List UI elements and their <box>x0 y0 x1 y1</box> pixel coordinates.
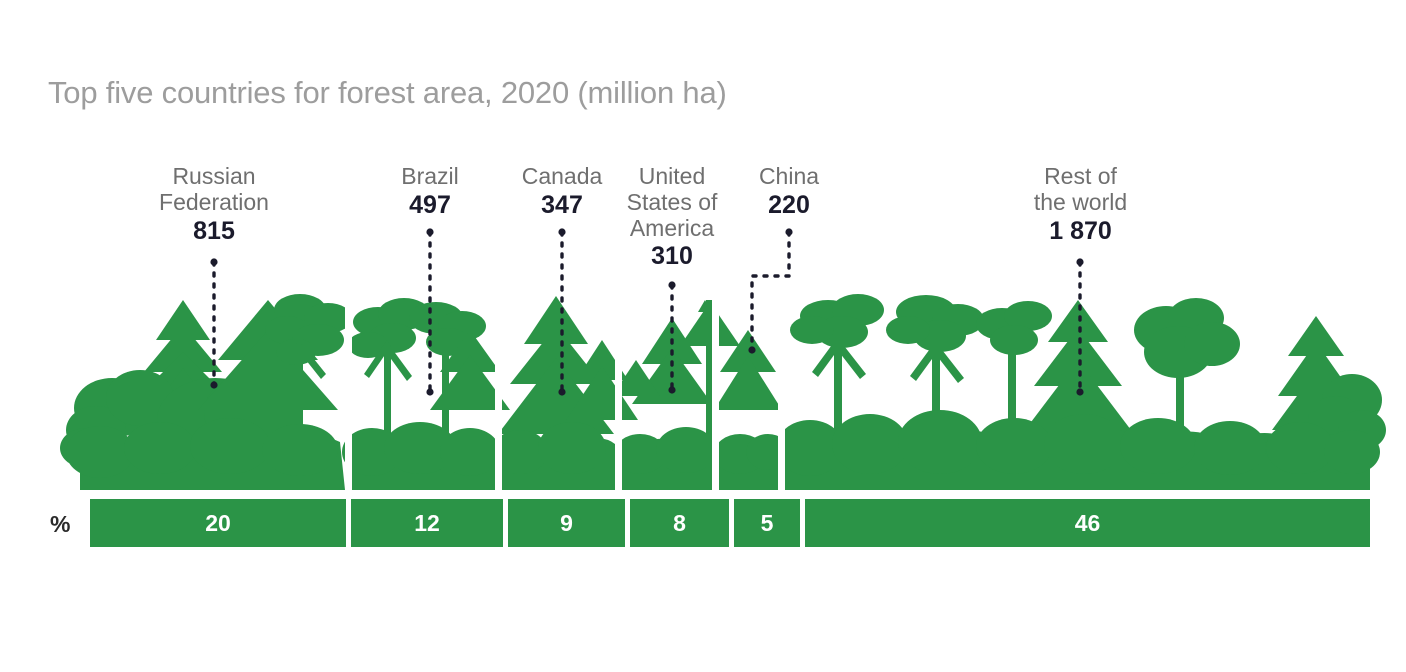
bar-segment-united-states: 8 <box>630 499 729 547</box>
callout-rest-of-the-world: Rest of the world 1 870 <box>1008 164 1153 245</box>
callout-name-line2: Federation <box>134 190 294 216</box>
callout-value: 310 <box>610 242 734 270</box>
callout-canada: Canada 347 <box>500 164 624 219</box>
callout-name-line2: the world <box>1008 190 1153 216</box>
callout-russian-federation: Russian Federation 815 <box>134 164 294 245</box>
callout-name-line1: China <box>734 164 844 190</box>
callout-value: 220 <box>734 191 844 219</box>
bar-segment-canada: 9 <box>508 499 625 547</box>
callout-value: 1 870 <box>1008 217 1153 245</box>
bar-segment-rest-of-world: 46 <box>805 499 1370 547</box>
callout-china: China 220 <box>734 164 844 219</box>
callout-united-states-of-america: United States of America 310 <box>610 164 734 270</box>
forest-area-infographic: Top five countries for forest area, 2020… <box>0 0 1406 672</box>
forest-illustration <box>0 0 1406 672</box>
callout-name-line1: United <box>610 164 734 190</box>
forest-silhouette-group <box>60 294 1386 490</box>
callout-value: 347 <box>500 191 624 219</box>
percent-axis-label: % <box>50 511 70 538</box>
callout-name-line1: Brazil <box>370 164 490 190</box>
percent-stacked-bar: 20 12 9 8 5 46 <box>90 499 1370 547</box>
bar-segment-china: 5 <box>734 499 800 547</box>
callout-name-line1: Canada <box>500 164 624 190</box>
callout-brazil: Brazil 497 <box>370 164 490 219</box>
callout-name-line1: Rest of <box>1008 164 1153 190</box>
callout-name-line3: America <box>610 216 734 242</box>
bar-segment-brazil: 12 <box>351 499 503 547</box>
bar-segment-russian-federation: 20 <box>90 499 346 547</box>
callout-name-line2: States of <box>610 190 734 216</box>
callout-value: 497 <box>370 191 490 219</box>
callout-value: 815 <box>134 217 294 245</box>
callout-name-line1: Russian <box>134 164 294 190</box>
